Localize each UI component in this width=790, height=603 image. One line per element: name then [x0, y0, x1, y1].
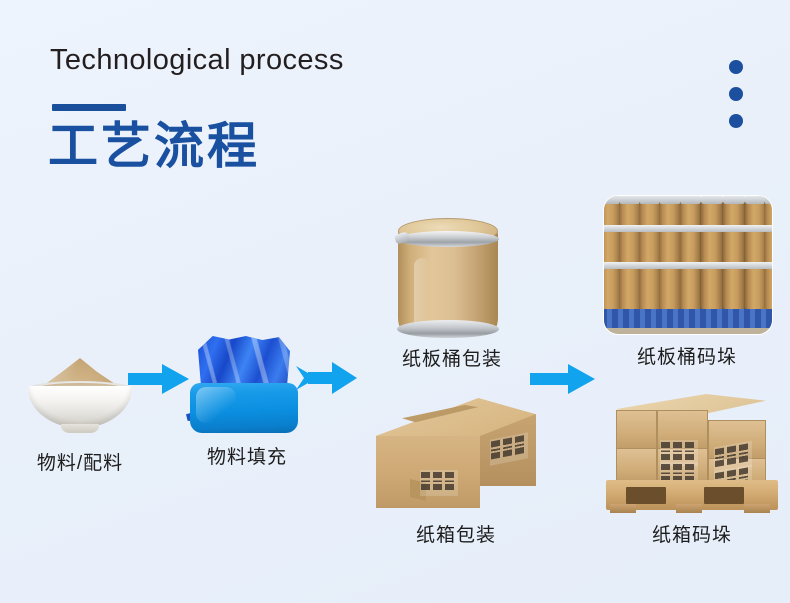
page-title-en: Technological process	[50, 44, 344, 77]
step-filling: 物料填充	[182, 336, 312, 466]
step-label-filling: 物料填充	[207, 442, 287, 469]
drum	[680, 196, 702, 309]
drum	[619, 196, 641, 309]
dot-2	[729, 87, 743, 101]
pallet-block	[744, 504, 770, 513]
arrow-right-icon	[296, 361, 358, 395]
page-title-cn: 工艺流程	[48, 118, 260, 174]
cardboard-carton-icon	[374, 392, 538, 516]
drum	[764, 196, 772, 309]
dot-1	[729, 60, 743, 74]
drum	[723, 196, 745, 309]
drum-bottom-ring	[397, 320, 499, 338]
flow-arrow-1	[128, 363, 190, 395]
bag-filled-body	[190, 383, 298, 433]
process-infographic: Technological process 工艺流程 物料/配料 物料填充	[0, 0, 790, 603]
bowl-foot	[61, 424, 99, 433]
pallet-opening	[704, 487, 744, 504]
drum	[701, 196, 723, 309]
drum-row	[604, 196, 772, 309]
blue-bag-icon	[190, 336, 298, 436]
step-label-material: 物料/配料	[37, 448, 123, 475]
dot-3	[729, 114, 743, 128]
handling-symbols	[420, 470, 458, 496]
step-drum-palletizing: 纸板桶码垛	[596, 196, 778, 376]
carton-front-face	[376, 436, 480, 508]
pallet-block	[610, 504, 636, 513]
drum	[639, 196, 661, 309]
title-underline-rule	[52, 104, 126, 111]
pallet-block	[676, 504, 702, 513]
drum-top-ring	[397, 231, 499, 247]
step-drum-packing: 纸板桶包装	[372, 214, 532, 374]
step-label-drum-packing: 纸板桶包装	[402, 344, 502, 371]
step-label-drum-palletizing: 纸板桶码垛	[637, 342, 737, 369]
arrow-right-icon	[128, 363, 190, 395]
step-carton-palletizing: 纸箱码垛	[596, 392, 786, 552]
menu-dots-icon[interactable]	[729, 60, 743, 141]
bowl-body	[28, 386, 132, 428]
powder-bowl-icon	[20, 356, 140, 436]
pallet-opening	[626, 487, 666, 504]
drum	[659, 196, 681, 309]
palletized-cartons-icon	[604, 392, 780, 516]
step-label-carton-palletizing: 纸箱码垛	[652, 520, 732, 547]
stacked-drums-photo	[604, 196, 772, 334]
flow-arrow-3	[530, 363, 596, 395]
step-carton-packing: 纸箱包装	[366, 392, 546, 552]
carton-seam	[656, 410, 658, 484]
step-label-carton-packing: 纸箱包装	[416, 520, 496, 547]
arrow-right-icon	[530, 363, 596, 395]
flow-arrow-2	[296, 361, 358, 395]
fibre-drum-icon	[394, 216, 502, 342]
